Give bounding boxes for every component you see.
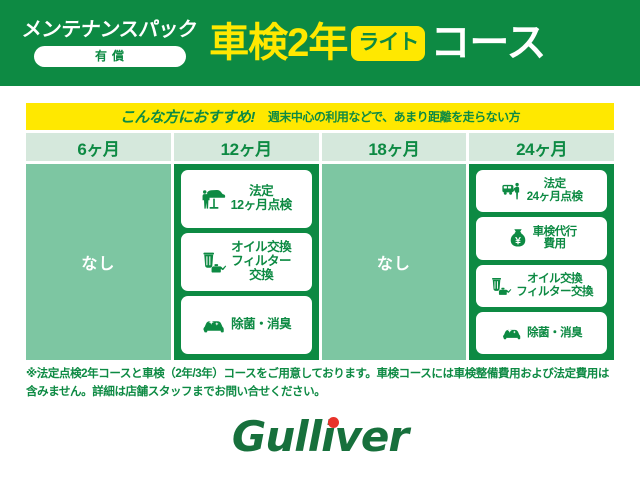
service-item: オイル交換 フィルター交換 (476, 265, 607, 307)
service-item-label: 除菌・消臭 (527, 327, 582, 340)
gulliver-logo: Gulliver (232, 416, 408, 458)
no-service-label: なし (377, 250, 411, 274)
service-item: 車検代行 費用 (476, 217, 607, 259)
service-item-label: オイル交換 フィルター 交換 (231, 241, 291, 282)
recommendation-detail: 週末中心の利用などで、あまり距離を走らない方 (268, 108, 520, 125)
service-item: 法定 12ヶ月点検 (181, 170, 312, 228)
plan-column-header: 6ヶ月 (26, 133, 171, 161)
recommendation-headline: こんな方におすすめ! (120, 106, 255, 127)
plan-column-header: 12ヶ月 (174, 133, 319, 161)
plan-column-24m: 24ヶ月法定 24ヶ月点検車検代行 費用オイル交換 フィルター交換除菌・消臭 (469, 133, 614, 360)
plan-column-12m: 12ヶ月法定 12ヶ月点検オイル交換 フィルター 交換除菌・消臭 (174, 133, 319, 360)
money-bag-yen-icon (507, 227, 529, 249)
course-tail-text: コース (430, 23, 545, 63)
service-item: 除菌・消臭 (181, 296, 312, 354)
car-lift-inspection-icon (201, 186, 227, 212)
service-item-label: 法定 12ヶ月点検 (231, 185, 292, 213)
plan-column-body: なし (26, 164, 171, 360)
plan-column-18m: 18ヶ月なし (322, 133, 467, 360)
plan-column-body: なし (322, 164, 467, 360)
maintenance-pack-block: メンテナンスパック 有償 (22, 20, 197, 67)
maintenance-pack-title: メンテナンスパック (21, 20, 198, 40)
course-title-line: 車検2年 ライト コース (209, 23, 545, 63)
no-service-label: なし (81, 250, 115, 274)
brand-logo-area: Gulliver (0, 412, 640, 462)
light-badge: ライト (351, 26, 425, 61)
plan-column-6m: 6ヶ月なし (26, 133, 171, 360)
service-item-label: 車検代行 費用 (533, 226, 577, 251)
header-banner: メンテナンスパック 有償 車検2年 ライト コース (0, 0, 640, 86)
car-sparkle-icon (201, 312, 227, 338)
car-person-inspection-icon (501, 180, 523, 202)
recommendation-bar: こんな方におすすめ! 週末中心の利用などで、あまり距離を走らない方 (26, 103, 614, 130)
service-item: 法定 24ヶ月点検 (476, 170, 607, 212)
service-item-label: 除菌・消臭 (231, 318, 291, 332)
plan-table: 6ヶ月なし12ヶ月法定 12ヶ月点検オイル交換 フィルター 交換除菌・消臭18ヶ… (26, 133, 614, 360)
plan-column-body: 法定 12ヶ月点検オイル交換 フィルター 交換除菌・消臭 (174, 164, 319, 360)
plan-column-header: 24ヶ月 (469, 133, 614, 161)
service-item-label: 法定 24ヶ月点検 (527, 178, 583, 203)
footnote-text: ※法定点検2年コースと車検（2年/3年）コースをご用意しております。車検コースに… (26, 366, 618, 402)
service-item: オイル交換 フィルター 交換 (181, 233, 312, 291)
course-main-text: 車検2年 (209, 23, 347, 63)
plan-column-header: 18ヶ月 (322, 133, 467, 161)
oil-filter-change-icon (201, 249, 227, 275)
service-item: 除菌・消臭 (476, 312, 607, 354)
plan-column-body: 法定 24ヶ月点検車検代行 費用オイル交換 フィルター交換除菌・消臭 (469, 164, 614, 360)
paid-badge: 有償 (34, 46, 186, 67)
oil-filter-change-icon (490, 275, 512, 297)
car-sparkle-icon (501, 322, 523, 344)
service-item-label: オイル交換 フィルター交換 (516, 273, 593, 298)
gulliver-logo-text: Gulliver (232, 412, 408, 461)
logo-red-dot-icon (328, 417, 339, 428)
